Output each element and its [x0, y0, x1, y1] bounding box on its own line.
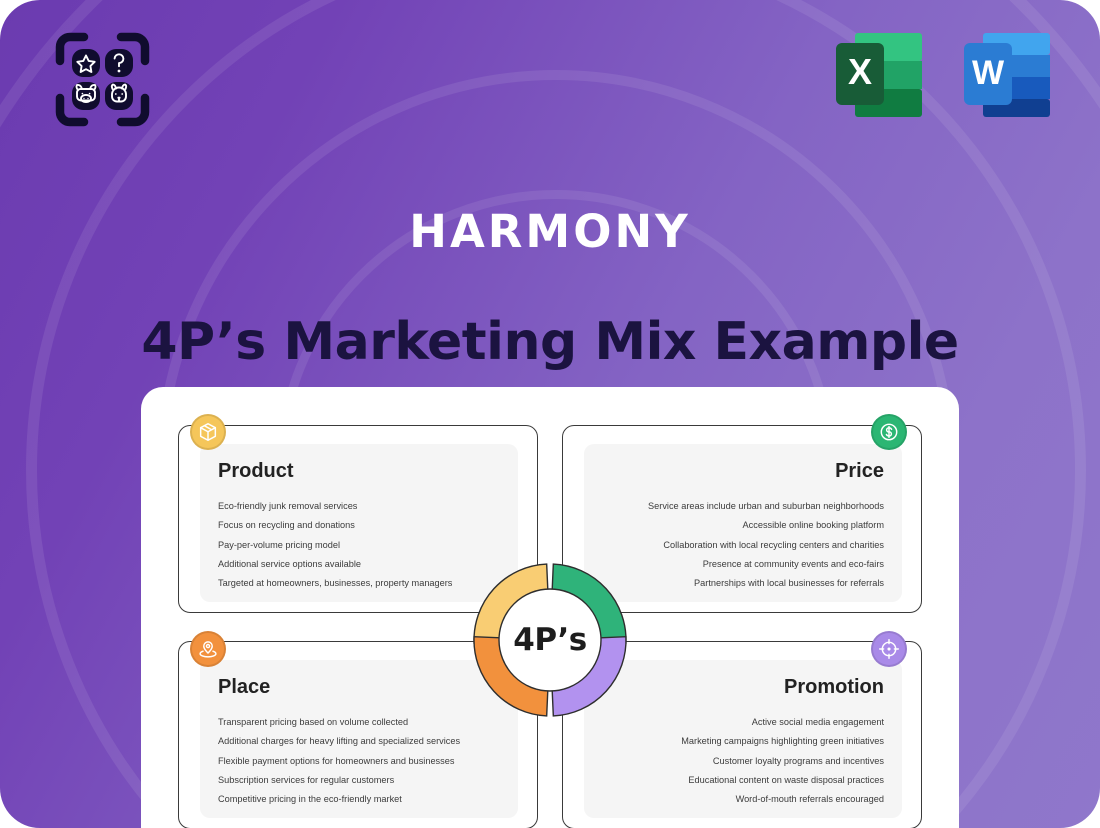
list-item: Additional charges for heavy lifting and… [218, 732, 500, 751]
card-title-product: Product [218, 460, 500, 483]
list-item: Active social media engagement [602, 713, 884, 732]
list-item: Pay-per-volume pricing model [218, 536, 500, 555]
list-item: Targeted at homeowners, businesses, prop… [218, 574, 500, 593]
office-app-icons: X W [830, 27, 1056, 125]
card-title-place: Place [218, 676, 500, 699]
dollar-coin-icon[interactable] [871, 414, 907, 450]
list-item: Flexible payment options for homeowners … [218, 752, 500, 771]
svg-text:X: X [848, 51, 872, 92]
list-item: Partnerships with local businesses for r… [602, 574, 884, 593]
list-item: Educational content on waste disposal pr… [602, 771, 884, 790]
brand-eyebrow: HARMONY [0, 205, 1100, 258]
card-list-price: Service areas include urban and suburban… [602, 497, 884, 593]
card-list-place: Transparent pricing based on volume coll… [218, 713, 500, 809]
list-item: Word-of-mouth referrals encouraged [602, 790, 884, 809]
card-list-product: Eco-friendly junk removal services Focus… [218, 497, 500, 593]
card-list-promotion: Active social media engagement Marketing… [602, 713, 884, 809]
list-item: Marketing campaigns highlighting green i… [602, 732, 884, 751]
card-title-price: Price [602, 460, 884, 483]
list-item: Eco-friendly junk removal services [218, 497, 500, 516]
location-pin-icon[interactable] [190, 631, 226, 667]
word-icon[interactable]: W [958, 27, 1056, 125]
harmony-scan-logo[interactable] [50, 27, 155, 132]
svg-text:W: W [972, 54, 1005, 92]
list-item: Customer loyalty programs and incentives [602, 752, 884, 771]
list-item: Competitive pricing in the eco-friendly … [218, 790, 500, 809]
list-item: Subscription services for regular custom… [218, 771, 500, 790]
list-item: Transparent pricing based on volume coll… [218, 713, 500, 732]
card-title-promotion: Promotion [602, 676, 884, 699]
excel-icon[interactable]: X [830, 27, 928, 125]
list-item: Focus on recycling and donations [218, 516, 500, 535]
poster-card: X W HARMONY 4P’s Marketing Mix Example P… [0, 0, 1100, 828]
list-item: Presence at community events and eco-fai… [602, 555, 884, 574]
list-item: Additional service options available [218, 555, 500, 574]
target-crosshair-icon[interactable] [871, 631, 907, 667]
package-icon[interactable] [190, 414, 226, 450]
list-item: Collaboration with local recycling cente… [602, 536, 884, 555]
list-item: Service areas include urban and suburban… [602, 497, 884, 516]
list-item: Accessible online booking platform [602, 516, 884, 535]
page-title: 4P’s Marketing Mix Example [0, 312, 1100, 372]
donut-center-label: 4P’s [467, 557, 633, 723]
